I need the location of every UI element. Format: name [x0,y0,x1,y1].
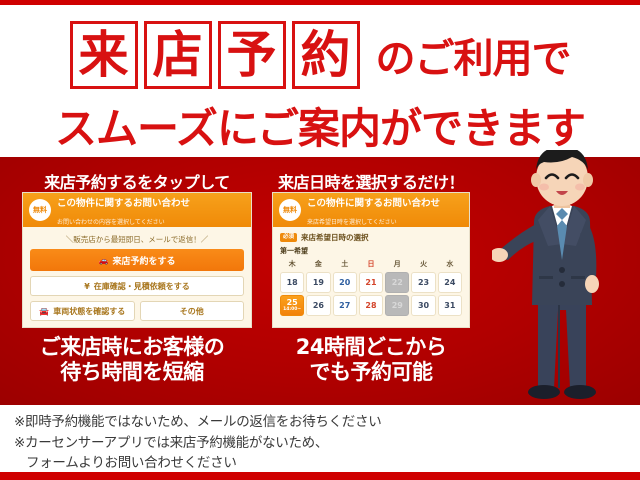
stock-quote-button[interactable]: ¥ 在庫確認・見積依頼をする [30,276,244,296]
calendar-day-cell[interactable]: 19 [306,272,330,293]
inquiry-header-title: この物件に関するお問い合わせ [57,198,190,209]
calendar-section-label: 来店希望日時の選択 [301,232,369,243]
headline-line2: スムーズにご案内ができます [0,95,640,156]
day-number: 29 [392,302,403,310]
right-panel-title: 来店日時を選択するだけ！ [266,169,476,193]
yen-icon: ¥ [84,282,90,291]
calendar-day-cell[interactable]: 28 [359,295,383,316]
right-caption-line1: 24時間どこから [296,335,447,359]
preference-label: 第一希望 [280,246,462,256]
calendar-day-cell[interactable]: 18 [280,272,304,293]
stock-quote-label: 在庫確認・見積依頼をする [94,281,190,292]
calendar-header-title: この物件に関するお問い合わせ [307,198,440,209]
promo-banner: 来 店 予 約 のご利用で スムーズにご案内ができます 来店予約するをタップして… [0,0,640,480]
day-number: 21 [365,279,376,287]
calendar-mockup: 無料 この物件に関するお問い合わせ 来店希望日時を選択してください 必須 来店希… [272,192,470,328]
businessman-illustration [492,150,632,408]
inquiry-form-mockup: 無料 この物件に関するお問い合わせ お問い合わせの内容を選択してください ＼販売… [22,192,252,328]
day-number: 30 [418,302,429,310]
calendar-day-cell[interactable]: 23 [411,272,435,293]
day-number: 25 [287,299,298,307]
calendar-header-subtitle: 来店希望日時を選択してください [307,219,397,226]
calendar-section-head: 必須 来店希望日時の選択 [280,232,462,243]
right-caption-line2: でも予約可能 [310,360,433,384]
calendar-grid: 木 金 土 日 月 火 水 18 19 20 21 22 23 24 25 [280,259,462,316]
day-number: 23 [418,279,429,287]
disclaimer-notes: ※即時予約機能ではないため、メールの返信をお待ちください ※カーセンサーアプリで… [14,412,466,474]
weekday-header-fri: 金 [306,259,330,270]
calendar-header: 無料 この物件に関するお問い合わせ 来店希望日時を選択してください [273,193,469,227]
reply-note: ＼販売店から最短即日、メールで返信！／ [30,234,244,245]
weekday-header-sat: 土 [333,259,357,270]
calendar-day-cell[interactable]: 30 [411,295,435,316]
calendar-day-cell-disabled: 22 [385,272,409,293]
day-number: 28 [365,302,376,310]
car-icon: 🚗 [99,256,109,265]
left-caption-line2: 待ち時間を短縮 [60,360,204,384]
disclaimer-line-1: ※即時予約機能ではないため、メールの返信をお待ちください [14,412,466,433]
inquiry-form-body: ＼販売店から最短即日、メールで返信！／ 🚗 来店予約をする ¥ 在庫確認・見積依… [23,227,251,328]
calendar-day-cell[interactable]: 27 [333,295,357,316]
disclaimer-line-3: フォームよりお問い合わせください [14,453,466,474]
day-number: 24 [444,279,455,287]
weekday-header-thu: 木 [280,259,304,270]
inquiry-form-header: 無料 この物件に関するお問い合わせ お問い合わせの内容を選択してください [23,193,251,227]
disclaimer-line-2: ※カーセンサーアプリでは来店予約機能がないため、 [14,433,466,454]
reserve-visit-button[interactable]: 🚗 来店予約をする [30,249,244,271]
calendar-day-cell[interactable]: 21 [359,272,383,293]
calendar-body: 必須 来店希望日時の選択 第一希望 木 金 土 日 月 火 水 18 19 20… [273,227,469,328]
free-badge: 無料 [29,199,51,221]
day-time-slot: 14:00~ [283,308,301,313]
day-number: 26 [313,302,324,310]
calendar-day-cell-disabled: 29 [385,295,409,316]
calendar-day-cell[interactable]: 31 [438,295,462,316]
calendar-day-cell[interactable]: 24 [438,272,462,293]
car-side-icon: 🚘 [39,307,49,316]
headline-kanji-box-2: 店 [144,21,212,89]
headline-tail-text: のご利用で [376,26,571,84]
secondary-button-row: 🚘 車両状態を確認する その他 [30,301,244,321]
vehicle-condition-label: 車両状態を確認する [53,306,125,317]
calendar-header-text: この物件に関するお問い合わせ 来店希望日時を選択してください [307,192,440,228]
headline-section: 来 店 予 約 のご利用で スムーズにご案内ができます [0,5,640,157]
headline-kanji-box-4: 約 [292,21,360,89]
free-badge: 無料 [279,199,301,221]
vehicle-condition-button[interactable]: 🚘 車両状態を確認する [30,301,135,321]
headline-kanji-box-1: 来 [70,21,138,89]
other-label: その他 [180,306,204,317]
calendar-day-cell[interactable]: 26 [306,295,330,316]
day-number: 27 [339,302,350,310]
left-caption-line1: ご来店時にお客様の [40,335,225,359]
left-caption: ご来店時にお客様の 待ち時間を短縮 [4,335,260,385]
bottom-red-rule [0,472,640,480]
weekday-header-tue: 火 [411,259,435,270]
left-panel-title: 来店予約するをタップして [14,169,260,193]
day-number: 31 [444,302,455,310]
footer-section: ※即時予約機能ではないため、メールの返信をお待ちください ※カーセンサーアプリで… [0,405,640,472]
headline-line1: 来 店 予 約 のご利用で [0,19,640,91]
day-number: 20 [339,279,350,287]
reserve-visit-label: 来店予約をする [112,254,175,267]
other-button[interactable]: その他 [140,301,245,321]
headline-kanji-box-3: 予 [218,21,286,89]
day-number: 19 [313,279,324,287]
weekday-header-wed: 水 [438,259,462,270]
right-caption: 24時間どこから でも予約可能 [264,335,478,385]
inquiry-header-subtitle: お問い合わせの内容を選択してください [57,219,165,226]
weekday-header-sun: 日 [359,259,383,270]
calendar-day-cell[interactable]: 20 [333,272,357,293]
calendar-day-cell-selected[interactable]: 25 14:00~ [280,295,304,316]
day-number: 22 [392,279,403,287]
day-number: 18 [287,279,298,287]
weekday-header-mon: 月 [385,259,409,270]
inquiry-form-header-text: この物件に関するお問い合わせ お問い合わせの内容を選択してください [57,192,190,228]
required-badge: 必須 [280,233,297,242]
